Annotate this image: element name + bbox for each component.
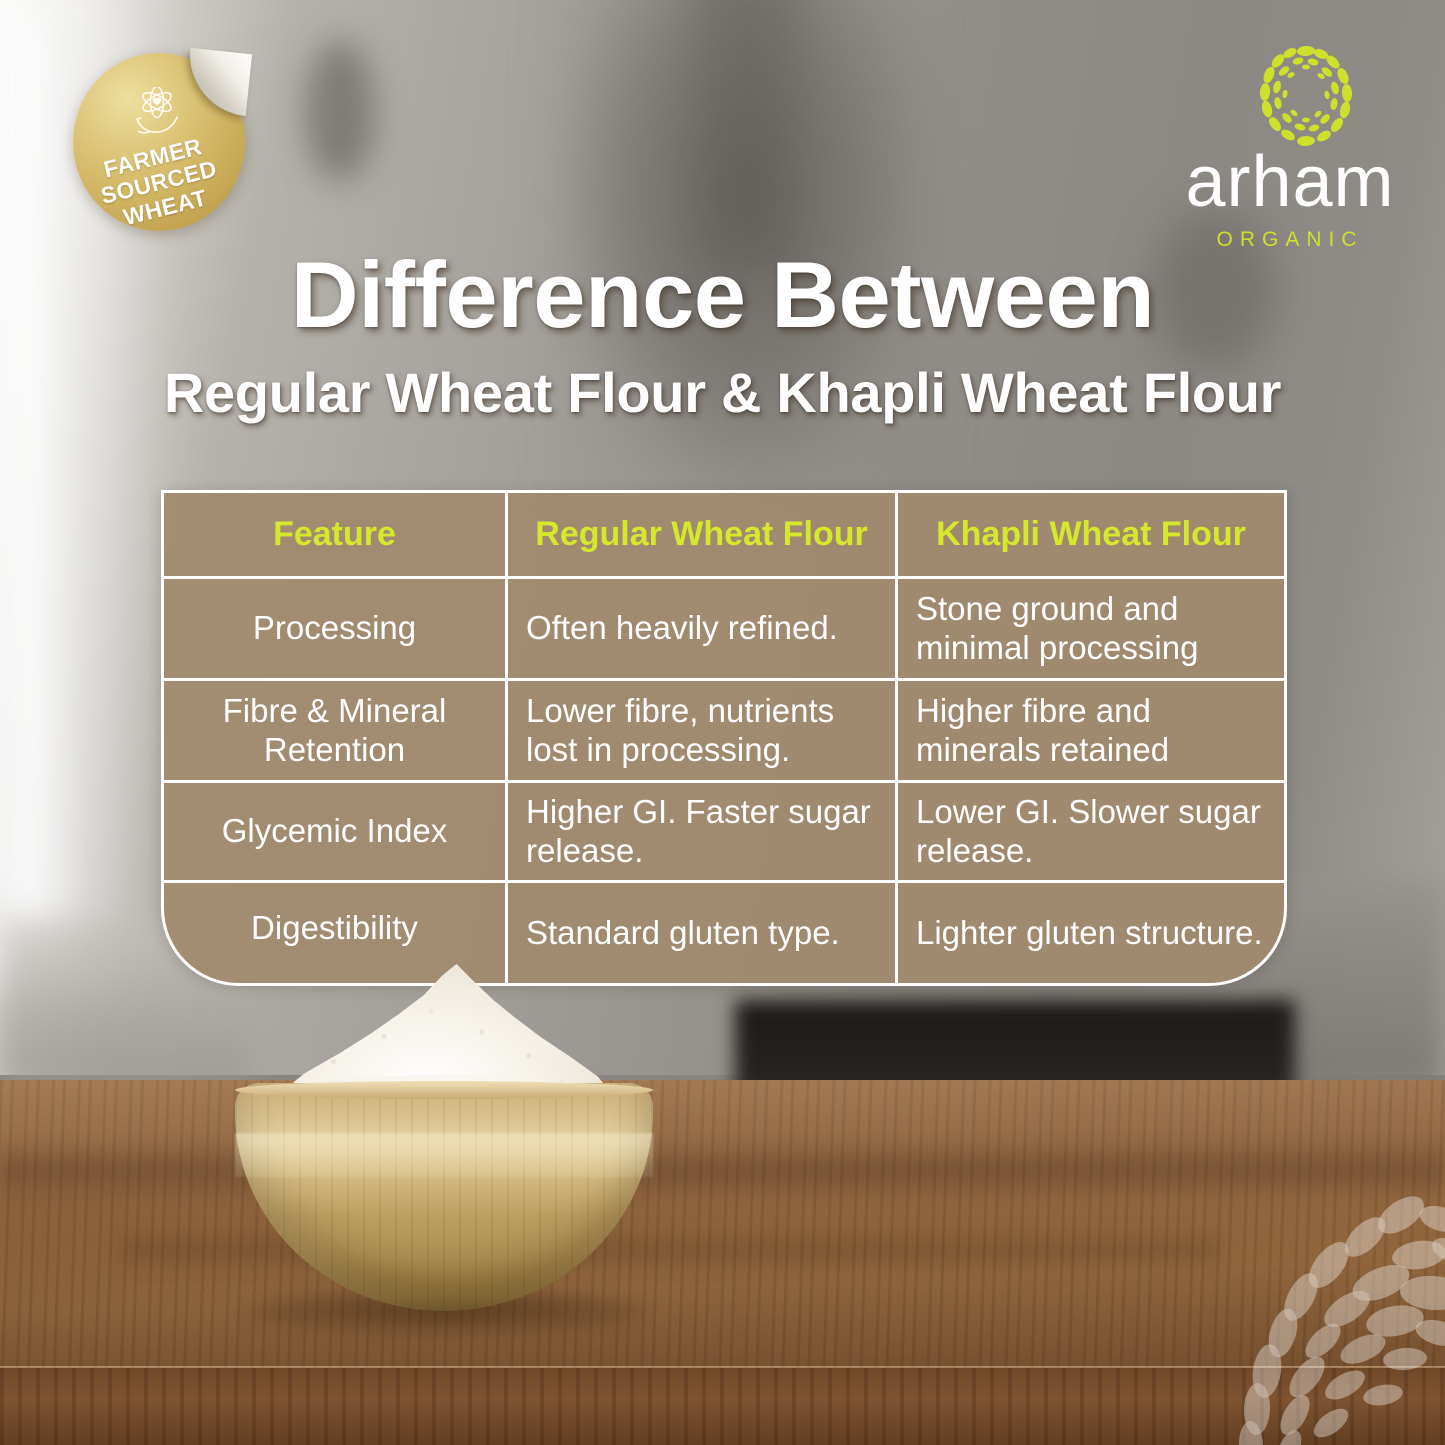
page-title: Difference Between [0,248,1445,342]
table-row: Glycemic Index Higher GI. Faster sugar r… [164,783,1284,883]
column-header-feature: Feature [164,493,508,576]
page-subtitle: Regular Wheat Flour & Khapli Wheat Flour [0,364,1445,423]
cell-feature: Fibre & Mineral Retention [164,681,508,780]
table-row: Processing Often heavily refined. Stone … [164,579,1284,681]
logo-wordmark: arham [1176,146,1404,218]
table-header-row: Feature Regular Wheat Flour Khapli Wheat… [164,493,1284,579]
cell-khapli: Higher fibre and minerals retained [898,681,1284,780]
poster-canvas: FARMER SOURCED WHEAT [0,0,1445,1445]
comparison-table: Feature Regular Wheat Flour Khapli Wheat… [161,490,1287,986]
brand-logo: arham ORGANIC [1176,42,1404,240]
poster-title-block: Difference Between Regular Wheat Flour &… [0,248,1445,423]
table-row: Fibre & Mineral Retention Lower fibre, n… [164,681,1284,783]
cell-feature: Processing [164,579,508,678]
bowl-light-band [235,1133,653,1177]
leaf-wreath-icon [1254,42,1358,150]
bowl-rim [235,1081,653,1099]
cell-khapli: Lower GI. Slower sugar release. [898,783,1284,880]
cell-khapli: Stone ground and minimal processing [898,579,1284,678]
column-header-khapli-wheat-flour: Khapli Wheat Flour [898,493,1284,576]
hand-holding-seed-icon [127,87,191,143]
cell-regular: Higher GI. Faster sugar release. [508,783,898,880]
cell-regular: Lower fibre, nutrients lost in processin… [508,681,898,780]
wheat-leaf-watermark-icon [1205,1193,1445,1445]
column-header-regular-wheat-flour: Regular Wheat Flour [508,493,898,576]
cell-khapli: Lighter gluten structure. [898,883,1284,983]
farmer-sourced-wheat-badge: FARMER SOURCED WHEAT [73,53,245,231]
wooden-bowl-of-flour [205,955,675,1255]
cell-regular: Often heavily refined. [508,579,898,678]
background-pendant-lamp-left [305,40,375,180]
cell-feature: Glycemic Index [164,783,508,880]
